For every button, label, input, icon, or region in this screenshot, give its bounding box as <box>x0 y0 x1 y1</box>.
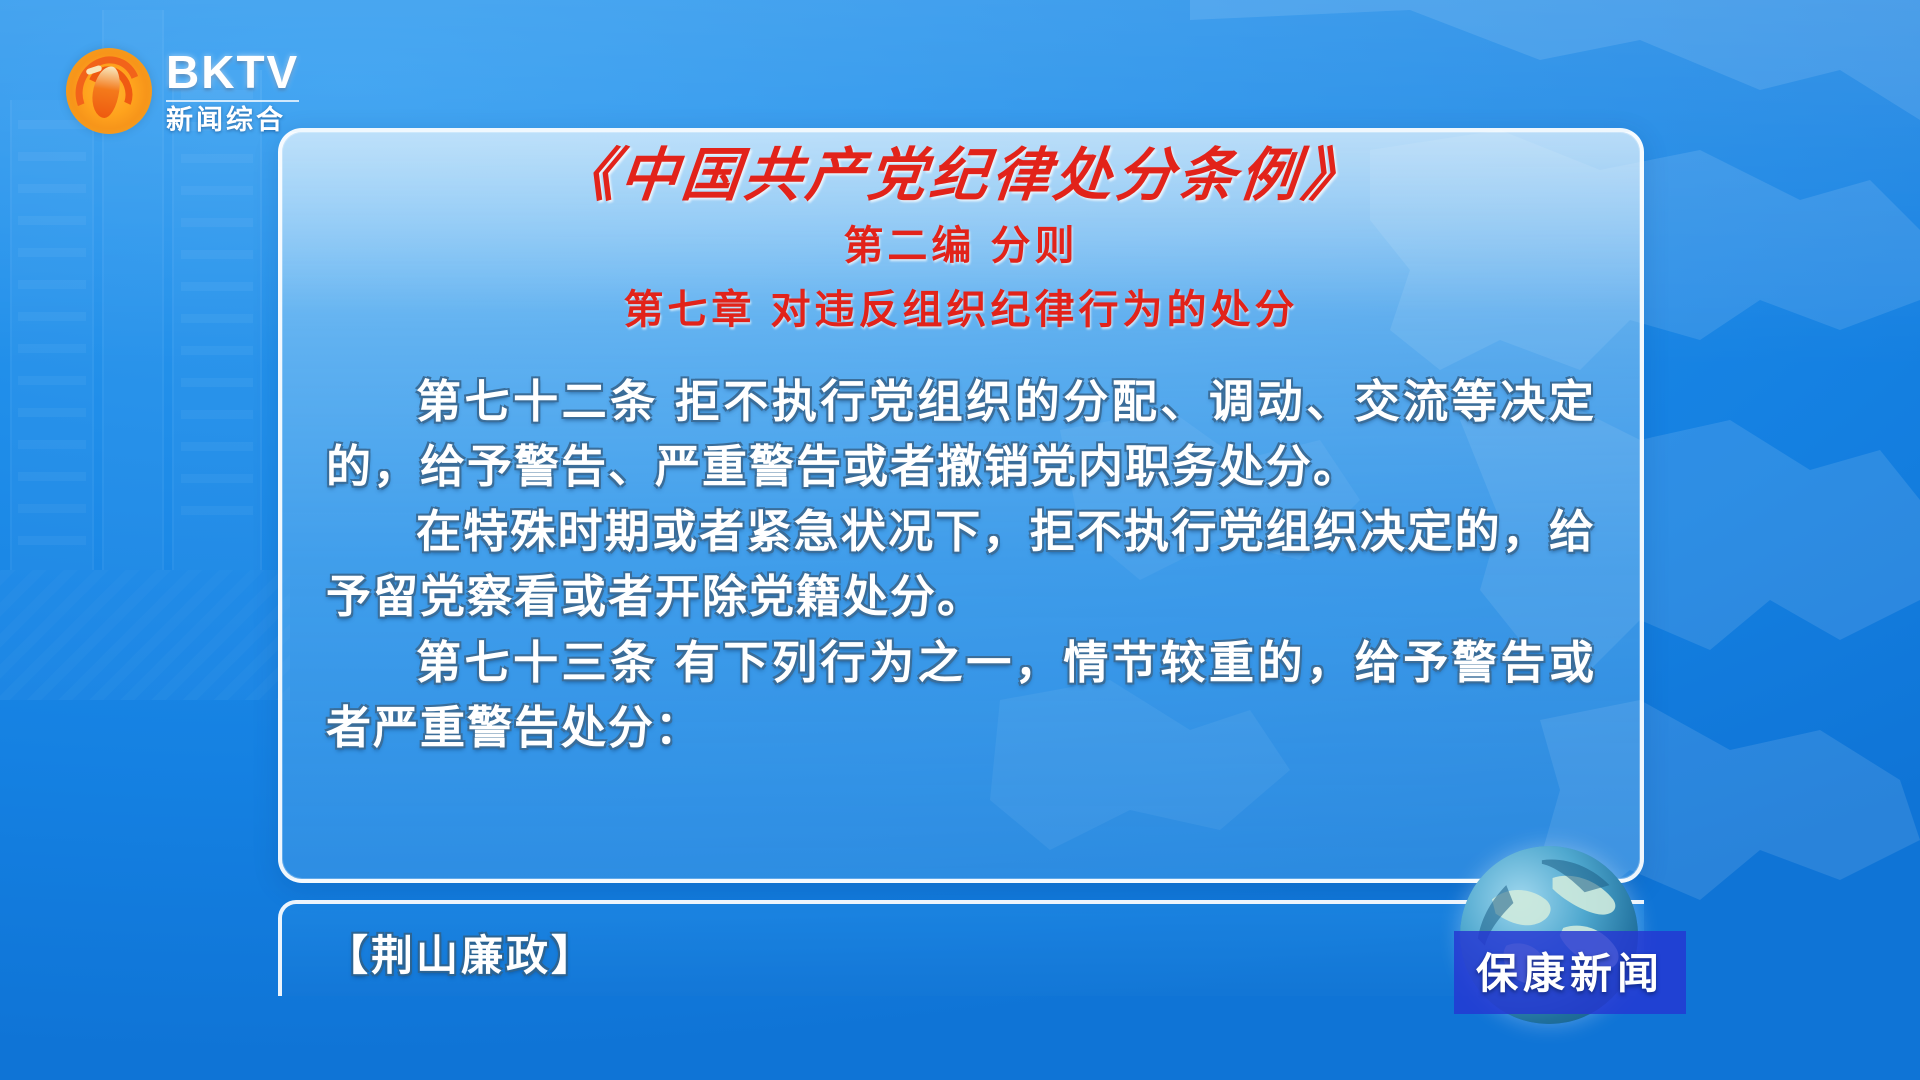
skyline-base <box>0 570 290 700</box>
lower-third-bar: 【荆山廉政】 <box>278 900 1644 996</box>
document-title: 《中国共产党纪律处分条例》 <box>278 142 1643 209</box>
channel-subchannel-name: 新闻综合 <box>166 107 299 134</box>
document-body: 第七十二条 拒不执行党组织的分配、调动、交流等决定的，给予警告、严重警告或者撤销… <box>326 369 1596 761</box>
channel-logo: BKTV 新闻综合 <box>66 48 299 134</box>
document-heading: 《中国共产党纪律处分条例》 第二编 分则 第七章 对违反组织纪律行为的处分 <box>282 132 1640 335</box>
document-paragraph: 在特殊时期或者紧急状况下，拒不执行党组织决定的，给予留党察看或者开除党籍处分。 <box>326 499 1596 630</box>
document-paragraph: 第七十二条 拒不执行党组织的分配、调动、交流等决定的，给予警告、严重警告或者撤销… <box>326 369 1596 500</box>
channel-wordmark: BKTV 新闻综合 <box>166 49 299 134</box>
document-paragraph: 第七十三条 有下列行为之一，情节较重的，给予警告或者严重警告处分： <box>326 630 1596 761</box>
document-part-heading: 第二编 分则 <box>282 213 1640 271</box>
skyline-tower <box>10 100 94 570</box>
segment-label: 【荆山廉政】 <box>326 922 596 983</box>
logo-divider <box>166 100 299 102</box>
program-badge: 保康新闻 <box>1454 931 1686 1014</box>
skyline-tower <box>172 70 262 570</box>
channel-callsign: BKTV <box>166 49 299 95</box>
document-chapter-heading: 第七章 对违反组织纪律行为的处分 <box>282 277 1640 335</box>
program-badge-label: 保康新闻 <box>1476 950 1664 997</box>
phoenix-emblem-icon <box>66 48 152 134</box>
document-panel: 《中国共产党纪律处分条例》 第二编 分则 第七章 对违反组织纪律行为的处分 第七… <box>278 128 1644 883</box>
